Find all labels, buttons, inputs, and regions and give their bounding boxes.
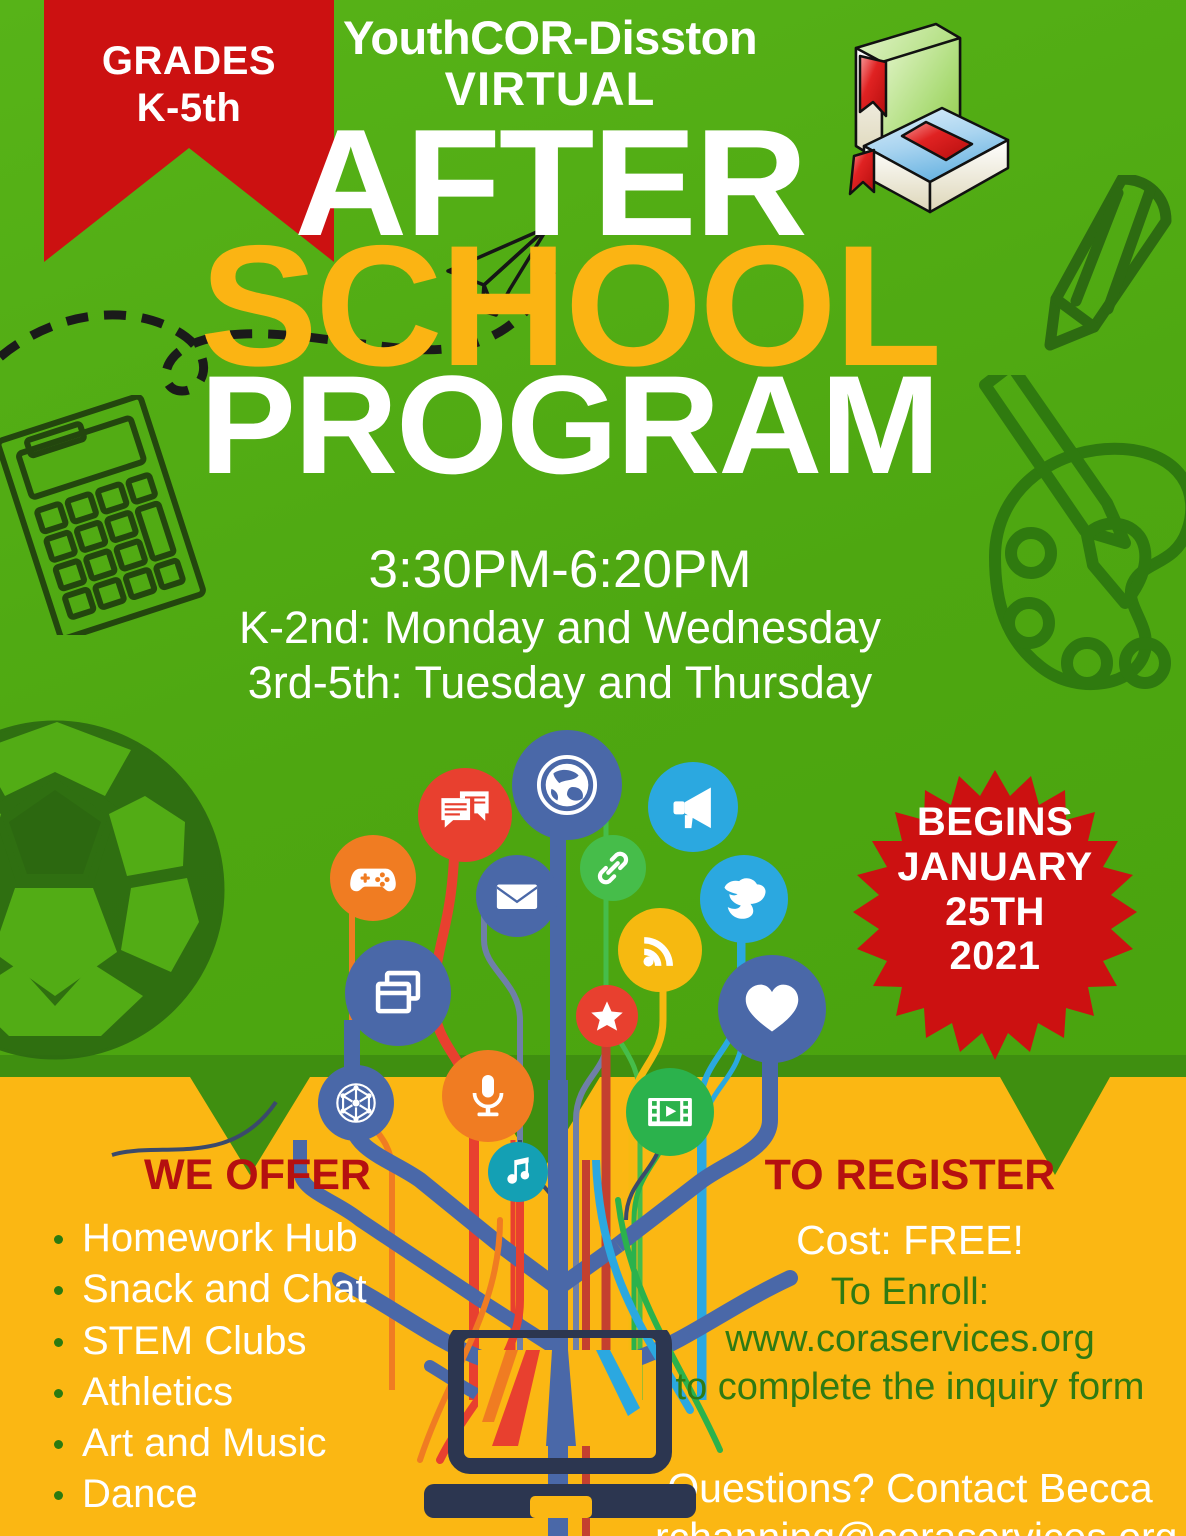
schedule-time: 3:30PM-6:20PM — [180, 540, 940, 601]
music-note-icon[interactable] — [488, 1142, 548, 1202]
globe-icon[interactable] — [512, 730, 622, 840]
network-icon[interactable] — [318, 1065, 394, 1141]
megaphone-icon[interactable] — [648, 762, 738, 852]
schedule-row-k2: K-2nd: Monday and Wednesday — [180, 601, 940, 656]
ribbon-line-2: K-5th — [44, 85, 334, 132]
questions-contact: Questions? Contact Becca — [655, 1463, 1165, 1513]
calculator-icon — [0, 395, 210, 635]
megaphone-glyph — [667, 781, 719, 833]
windows-glyph — [369, 964, 427, 1022]
list-item: Athletics — [30, 1367, 460, 1418]
network-glyph — [333, 1080, 379, 1126]
contact-email[interactable]: rchanning@coraservices.org — [655, 1513, 1165, 1536]
chat-glyph — [438, 788, 492, 842]
link-icon[interactable] — [580, 835, 646, 901]
enroll-instruction-line: to complete the inquiry form — [655, 1364, 1165, 1411]
music-note-glyph — [501, 1155, 535, 1189]
twitter-glyph — [718, 873, 770, 925]
heart-icon[interactable] — [718, 955, 826, 1063]
star-glyph — [589, 998, 625, 1034]
envelope-icon[interactable] — [476, 855, 558, 937]
chat-bubble-icon[interactable] — [418, 768, 512, 862]
link-glyph — [594, 849, 632, 887]
gamepad-glyph — [348, 853, 398, 903]
laptop-icon — [400, 1330, 720, 1536]
rss-icon[interactable] — [618, 908, 702, 992]
schedule-block: 3:30PM-6:20PM K-2nd: Monday and Wednesda… — [180, 540, 940, 711]
we-offer-section: WE OFFER Homework Hub Snack and Chat STE… — [30, 1152, 460, 1520]
starburst-line-1: BEGINS — [845, 800, 1145, 845]
heart-glyph — [742, 979, 802, 1039]
we-offer-heading: WE OFFER — [30, 1152, 460, 1199]
we-offer-list: Homework Hub Snack and Chat STEM Clubs A… — [30, 1213, 460, 1520]
microphone-glyph — [464, 1072, 512, 1120]
film-icon[interactable] — [626, 1068, 714, 1156]
enroll-url-line[interactable]: To Enroll: www.coraservices.org — [655, 1269, 1165, 1363]
starburst-text: BEGINS JANUARY 25TH 2021 — [845, 800, 1145, 979]
envelope-glyph — [494, 873, 540, 919]
starburst-line-3: 25TH — [845, 890, 1145, 935]
ribbon-line-1: GRADES — [44, 38, 334, 85]
starburst-line-2: JANUARY — [845, 845, 1145, 890]
to-register-heading: TO REGISTER — [655, 1152, 1165, 1199]
globe-glyph — [536, 754, 598, 816]
grades-ribbon-text: GRADES K-5th — [44, 38, 334, 132]
paint-palette-icon — [975, 375, 1186, 705]
list-item: Dance — [30, 1469, 460, 1520]
rss-glyph — [637, 927, 683, 973]
list-item: Homework Hub — [30, 1213, 460, 1264]
list-item: STEM Clubs — [30, 1316, 460, 1367]
to-register-section: TO REGISTER Cost: FREE! To Enroll: www.c… — [655, 1152, 1165, 1536]
gamepad-icon[interactable] — [330, 835, 416, 921]
title-word-program: PROGRAM — [200, 367, 900, 483]
windows-icon[interactable] — [345, 940, 451, 1046]
starburst-line-4: 2021 — [845, 934, 1145, 979]
film-glyph — [645, 1087, 695, 1137]
list-item: Art and Music — [30, 1418, 460, 1469]
list-item: Snack and Chat — [30, 1264, 460, 1315]
poster-canvas: GRADES K-5th YouthCOR-Disston VIRTUAL AF… — [0, 0, 1186, 1536]
twitter-bird-icon[interactable] — [700, 855, 788, 943]
star-icon[interactable] — [576, 985, 638, 1047]
microphone-icon[interactable] — [442, 1050, 534, 1142]
schedule-row-35: 3rd-5th: Tuesday and Thursday — [180, 656, 940, 711]
cost-text: Cost: FREE! — [655, 1215, 1165, 1265]
